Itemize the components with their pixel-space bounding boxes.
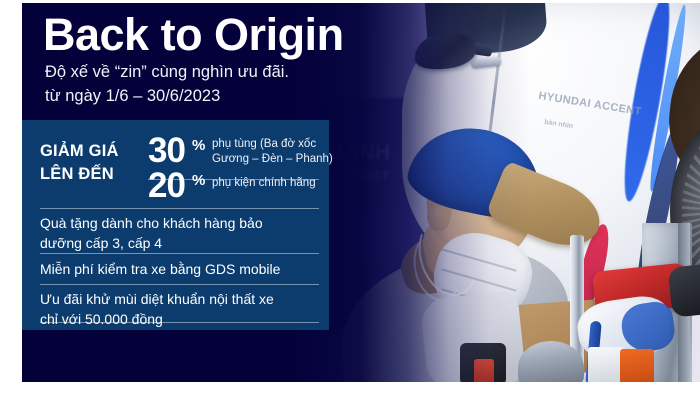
benefit-item-2-line-1: Miễn phí kiểm tra xe bằng GDS mobile [40, 261, 280, 277]
discount-description-20: phụ kiện chính hãng [212, 176, 316, 191]
benefit-item-1-line-1: Quà tặng dành cho khách hàng bảo [40, 215, 263, 231]
promo-content: GIẢM GIÁ LÊN ĐẾN 30 % phụ tùng (Ba đờ xố… [40, 120, 319, 330]
discount-description-30-line-1: phụ tùng (Ba đờ xốc [212, 138, 316, 150]
page-title: Back to Origin [43, 11, 344, 58]
subtitle-line-2: từ ngày 1/6 – 30/6/2023 [45, 85, 289, 109]
discount-unit-20: % [192, 172, 205, 189]
benefit-item-1-line-2: dưỡng cấp 3, cấp 4 [40, 234, 263, 254]
discount-description-30-line-2: Gương – Đèn – Phanh) [212, 153, 333, 165]
discount-unit-30: % [192, 137, 205, 154]
discount-description-30: phụ tùng (Ba đờ xốc Gương – Đèn – Phanh) [212, 137, 333, 167]
subtitle-line-1: Độ xế về “zin” cùng nghìn ưu đãi. [45, 63, 289, 81]
discount-label-line-1: GIẢM GIÁ [40, 142, 119, 160]
benefit-item-1: Quà tặng dành cho khách hàng bảo dưỡng c… [40, 214, 263, 254]
banner-canvas: ĐÁNH KỸ THUẬT HYUNDAI ACCENT bản nhìn [22, 3, 700, 382]
promo-info-box: GIẢM GIÁ LÊN ĐẾN 30 % phụ tùng (Ba đờ xố… [22, 120, 329, 330]
promotional-banner: ĐÁNH KỸ THUẬT HYUNDAI ACCENT bản nhìn [0, 0, 700, 403]
discount-label: GIẢM GIÁ LÊN ĐẾN [40, 140, 119, 187]
discount-value-20: 20 [148, 168, 185, 203]
discount-row: GIẢM GIÁ LÊN ĐẾN 30 % phụ tùng (Ba đờ xố… [40, 132, 319, 200]
benefit-divider [40, 284, 319, 285]
benefit-item-2: Miễn phí kiểm tra xe bằng GDS mobile [40, 260, 280, 280]
discount-value-30: 30 [148, 133, 185, 168]
benefit-divider-bottom [40, 322, 319, 323]
discount-label-line-2: LÊN ĐẾN [40, 163, 119, 186]
subtitle: Độ xế về “zin” cùng nghìn ưu đãi. từ ngà… [45, 61, 289, 109]
benefit-item-3-line-2: chỉ với 50.000 đồng [40, 310, 274, 330]
benefit-item-3-line-1: Ưu đãi khử mùi diệt khuẩn nội thất xe [40, 291, 274, 307]
benefit-divider [40, 208, 319, 209]
benefit-item-3: Ưu đãi khử mùi diệt khuẩn nội thất xe ch… [40, 290, 274, 330]
benefit-divider [40, 253, 319, 254]
